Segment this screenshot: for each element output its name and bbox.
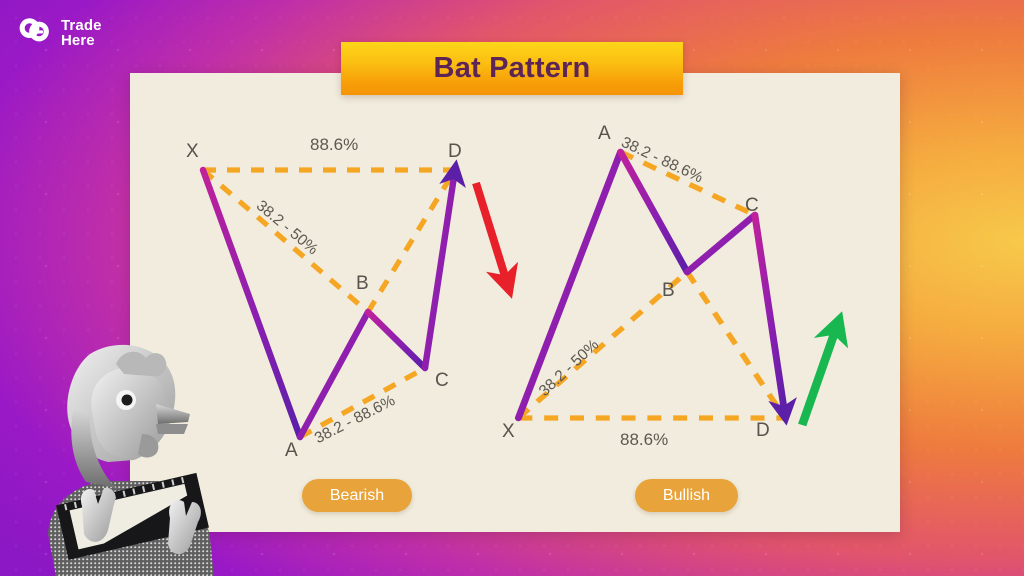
pill-bearish[interactable]: Bearish	[302, 479, 412, 512]
pill-bullish[interactable]: Bullish	[635, 479, 738, 512]
point-label-bearish-A: A	[285, 440, 298, 462]
chart-bullish: XABCD88.6%38.2 - 50%38.2 - 88.6%	[470, 73, 900, 532]
point-label-bullish-A: A	[598, 123, 611, 145]
brand-logo[interactable]: Trade Here	[18, 16, 102, 50]
brand-name-line2: Here	[61, 33, 102, 49]
point-label-bullish-C: C	[745, 195, 759, 217]
brand-wordmark: Trade Here	[61, 18, 102, 49]
point-label-bullish-D: D	[756, 420, 770, 442]
point-label-bullish-B: B	[662, 280, 675, 302]
up-arrow-icon	[802, 324, 837, 425]
point-label-bullish-X: X	[502, 421, 515, 443]
leg-CD	[425, 170, 455, 368]
fib-line-BD	[687, 272, 785, 418]
leg-CD	[755, 215, 785, 415]
leg-BC	[368, 312, 425, 368]
point-label-bearish-B: B	[356, 273, 369, 295]
bird-headed-figure-with-set-square	[38, 338, 216, 576]
go-circles-logo-icon	[18, 16, 52, 50]
brand-name-line1: Trade	[61, 18, 102, 34]
leg-BC	[687, 215, 755, 272]
pill-bearish-label: Bearish	[330, 487, 384, 505]
point-label-bearish-D: D	[448, 141, 462, 163]
fib-label-bearish-XD: 88.6%	[310, 135, 358, 155]
fib-label-bullish-XD: 88.6%	[620, 430, 668, 450]
point-label-bearish-C: C	[435, 370, 449, 392]
pill-bullish-label: Bullish	[663, 487, 710, 505]
point-label-bearish-X: X	[186, 141, 199, 163]
